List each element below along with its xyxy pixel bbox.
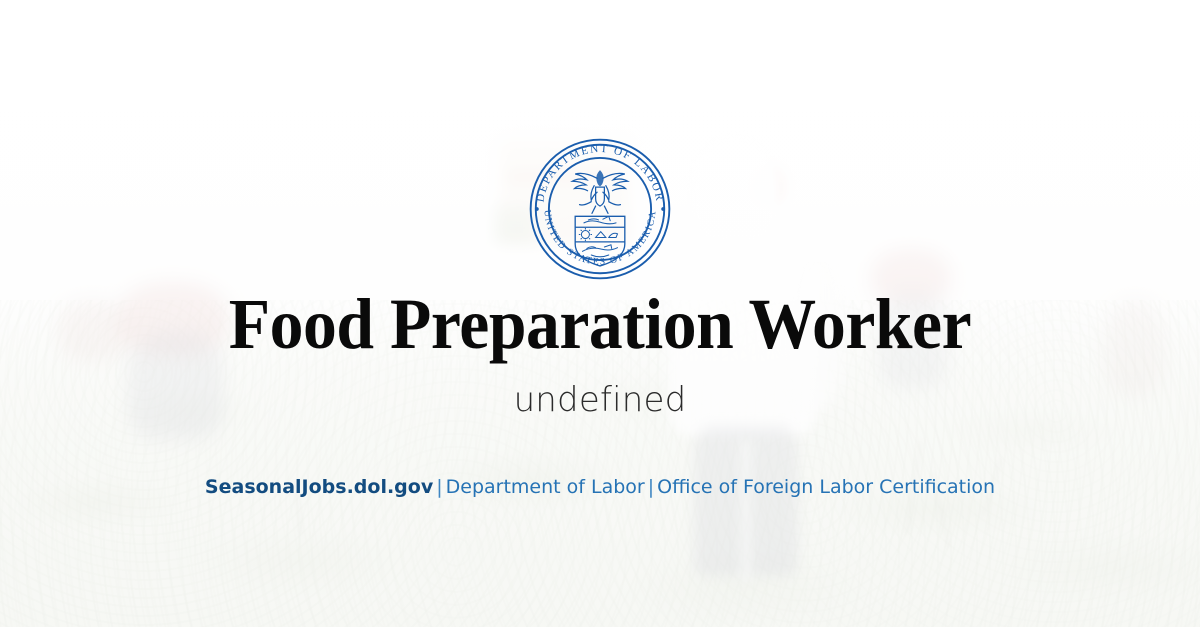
share-card: DEPARTMENT OF LABOR UNITED STATES OF AME… — [0, 0, 1200, 627]
footer-office-label: Office of Foreign Labor Certification — [657, 476, 995, 498]
footer-separator-1: | — [433, 476, 445, 498]
footer-agency-label: Department of Labor — [446, 476, 645, 498]
card-content: DEPARTMENT OF LABOR UNITED STATES OF AME… — [0, 0, 1200, 627]
footer-separator-2: | — [645, 476, 657, 498]
page-subtitle: undefined — [0, 383, 1200, 417]
page-title: Food Preparation Worker — [36, 288, 1164, 360]
dol-seal-icon: DEPARTMENT OF LABOR UNITED STATES OF AME… — [522, 136, 678, 282]
footer-brand-link[interactable]: SeasonalJobs.dol.gov — [205, 476, 433, 498]
footer-attribution: SeasonalJobs.dol.gov|Department of Labor… — [0, 476, 1200, 499]
